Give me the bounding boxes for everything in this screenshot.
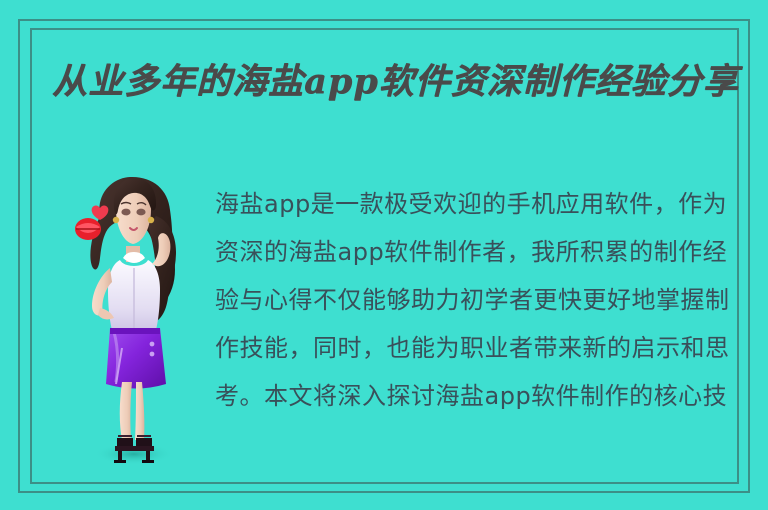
left-earring — [113, 217, 119, 223]
left-eye — [121, 209, 130, 216]
page-title: 从业多年的海盐app软件资深制作经验分享 — [52, 58, 752, 106]
right-earring — [148, 217, 154, 223]
character-illustration — [60, 172, 210, 482]
right-eye — [136, 209, 145, 216]
waistband — [110, 328, 160, 334]
skirt-button-2 — [150, 352, 155, 357]
left-leg — [120, 382, 132, 440]
body-paragraph: 海盐app是一款极受欢迎的手机应用软件，作为资深的海盐app软件制作者，我所积累… — [215, 180, 735, 470]
kiss-lips-emoji — [75, 218, 101, 240]
right-leg — [135, 382, 144, 440]
skirt-button-1 — [150, 342, 155, 347]
poster-canvas: 从业多年的海盐app软件资深制作经验分享 海盐app是一款极受欢迎的手机应用软件… — [0, 0, 768, 510]
